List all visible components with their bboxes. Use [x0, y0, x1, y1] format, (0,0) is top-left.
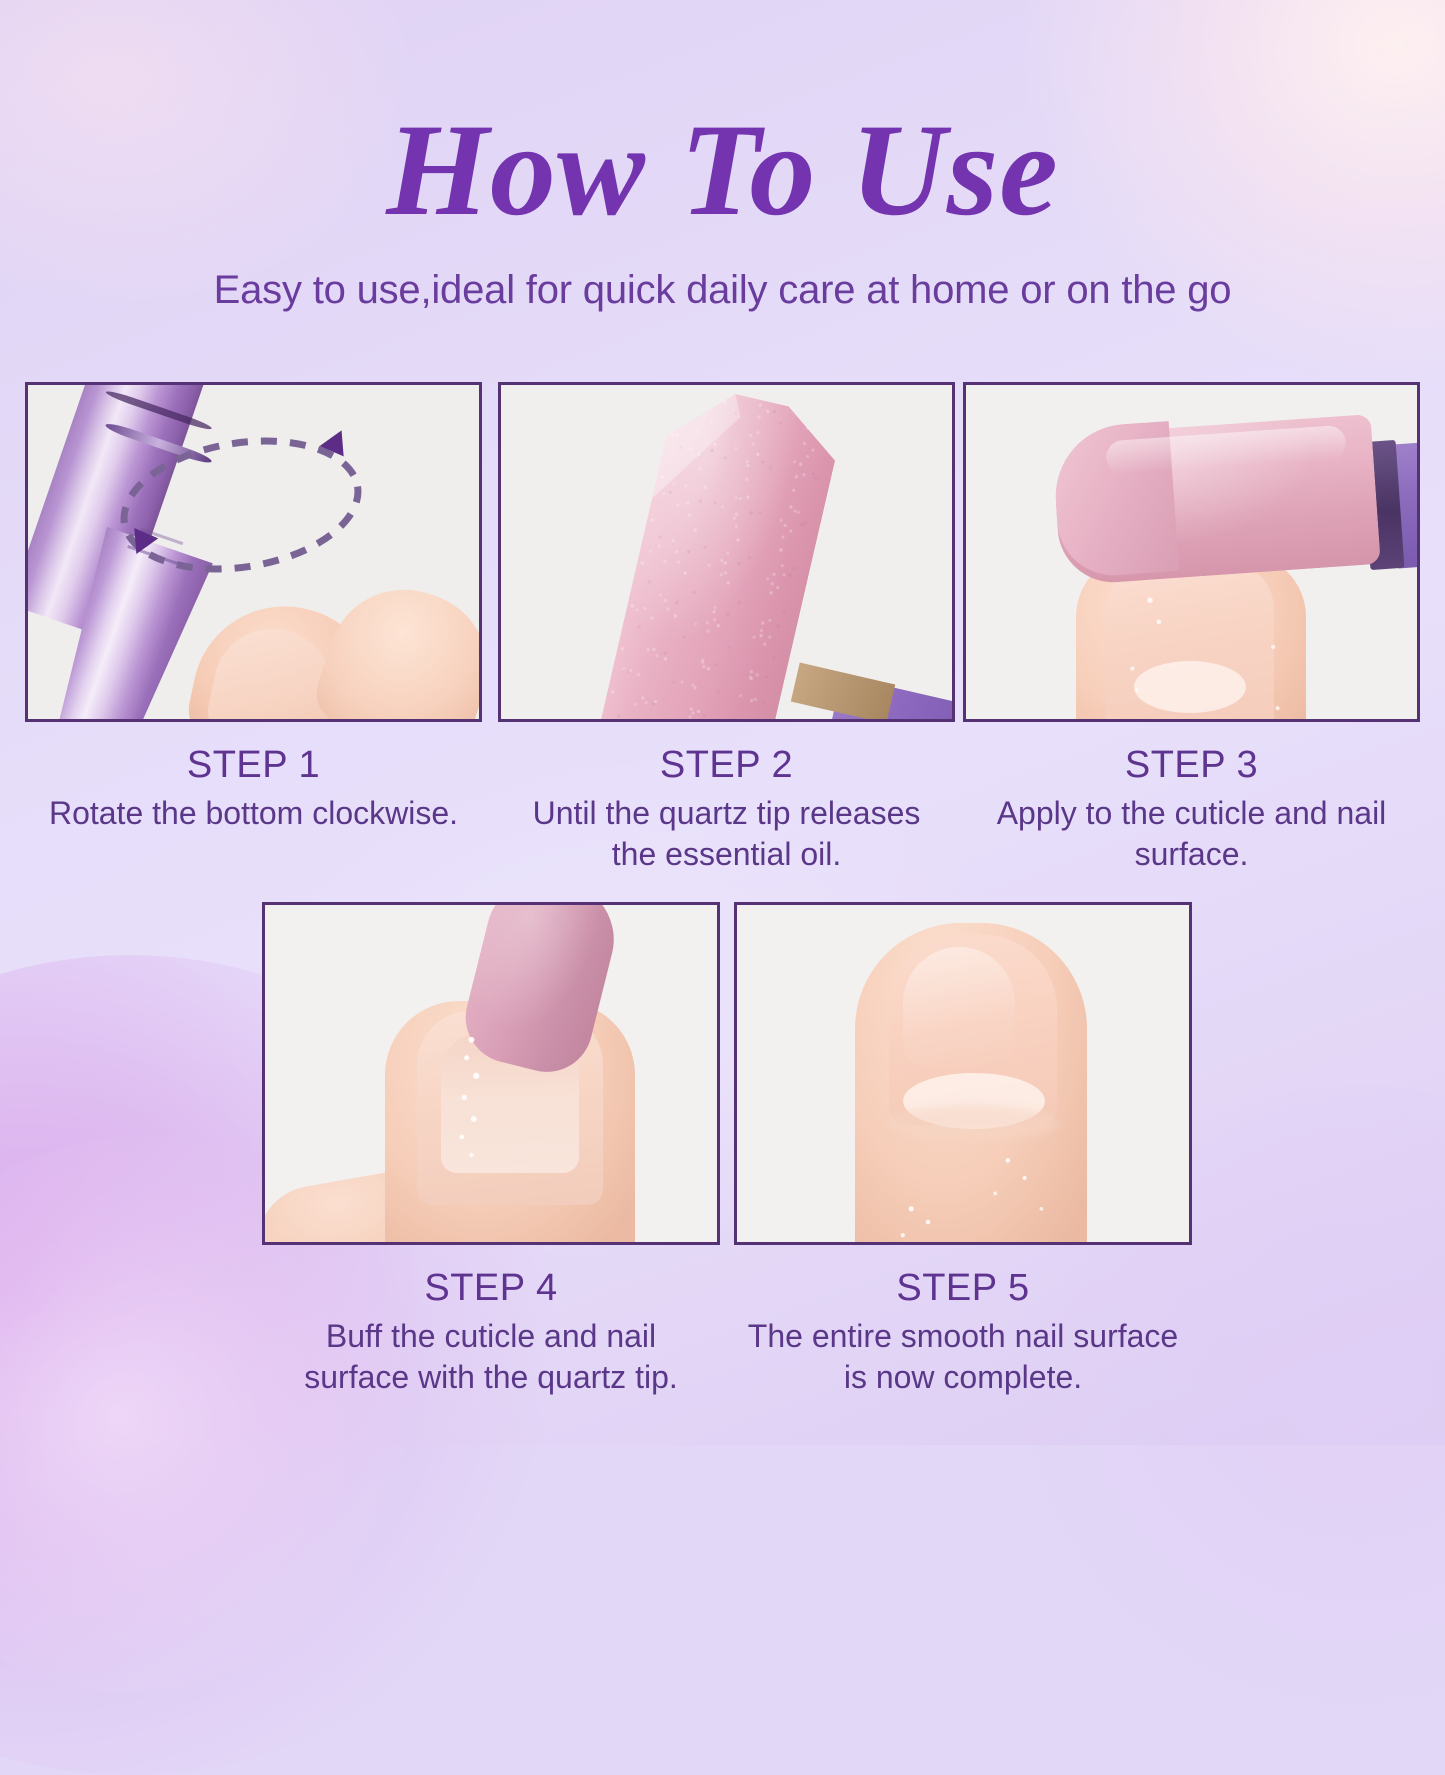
- page-subtitle: Easy to use,ideal for quick daily care a…: [0, 268, 1445, 313]
- step-5-photo: [737, 905, 1189, 1242]
- page-title: How To Use: [0, 0, 1445, 236]
- step-4-photo: [265, 905, 717, 1242]
- step-5-label: STEP 5: [734, 1267, 1192, 1310]
- step-3-photo-frame: [963, 382, 1420, 722]
- step-card-3: STEP 3 Apply to the cuticle and nail sur…: [963, 382, 1420, 875]
- step-card-1: STEP 1 Rotate the bottom clockwise.: [25, 382, 482, 834]
- step-4-label: STEP 4: [262, 1267, 720, 1310]
- step-1-caption: STEP 1 Rotate the bottom clockwise.: [25, 744, 482, 834]
- step-3-description: Apply to the cuticle and nail surface.: [963, 793, 1420, 875]
- step-1-label: STEP 1: [25, 744, 482, 787]
- step-2-photo: [501, 385, 952, 719]
- step-1-description: Rotate the bottom clockwise.: [25, 793, 482, 834]
- step-4-caption: STEP 4 Buff the cuticle and nail surface…: [262, 1267, 720, 1398]
- step-4-description: Buff the cuticle and nail surface with t…: [262, 1316, 720, 1398]
- step-card-2: STEP 2 Until the quartz tip releases the…: [498, 382, 955, 875]
- step-3-caption: STEP 3 Apply to the cuticle and nail sur…: [963, 744, 1420, 875]
- step-2-label: STEP 2: [498, 744, 955, 787]
- step-1-photo-frame: [25, 382, 482, 722]
- step-3-label: STEP 3: [963, 744, 1420, 787]
- step-5-caption: STEP 5 The entire smooth nail surface is…: [734, 1267, 1192, 1398]
- step-3-photo: [966, 385, 1417, 719]
- step-card-5: STEP 5 The entire smooth nail surface is…: [734, 902, 1192, 1398]
- rotate-arrow-icon: [106, 425, 376, 585]
- how-to-use-infographic: How To Use Easy to use,ideal for quick d…: [0, 0, 1445, 1445]
- step-4-photo-frame: [262, 902, 720, 1245]
- step-5-photo-frame: [734, 902, 1192, 1245]
- step-2-caption: STEP 2 Until the quartz tip releases the…: [498, 744, 955, 875]
- step-5-description: The entire smooth nail surface is now co…: [734, 1316, 1192, 1398]
- step-2-photo-frame: [498, 382, 955, 722]
- step-2-description: Until the quartz tip releases the essent…: [498, 793, 955, 875]
- step-1-photo: [28, 385, 479, 719]
- step-card-4: STEP 4 Buff the cuticle and nail surface…: [262, 902, 720, 1398]
